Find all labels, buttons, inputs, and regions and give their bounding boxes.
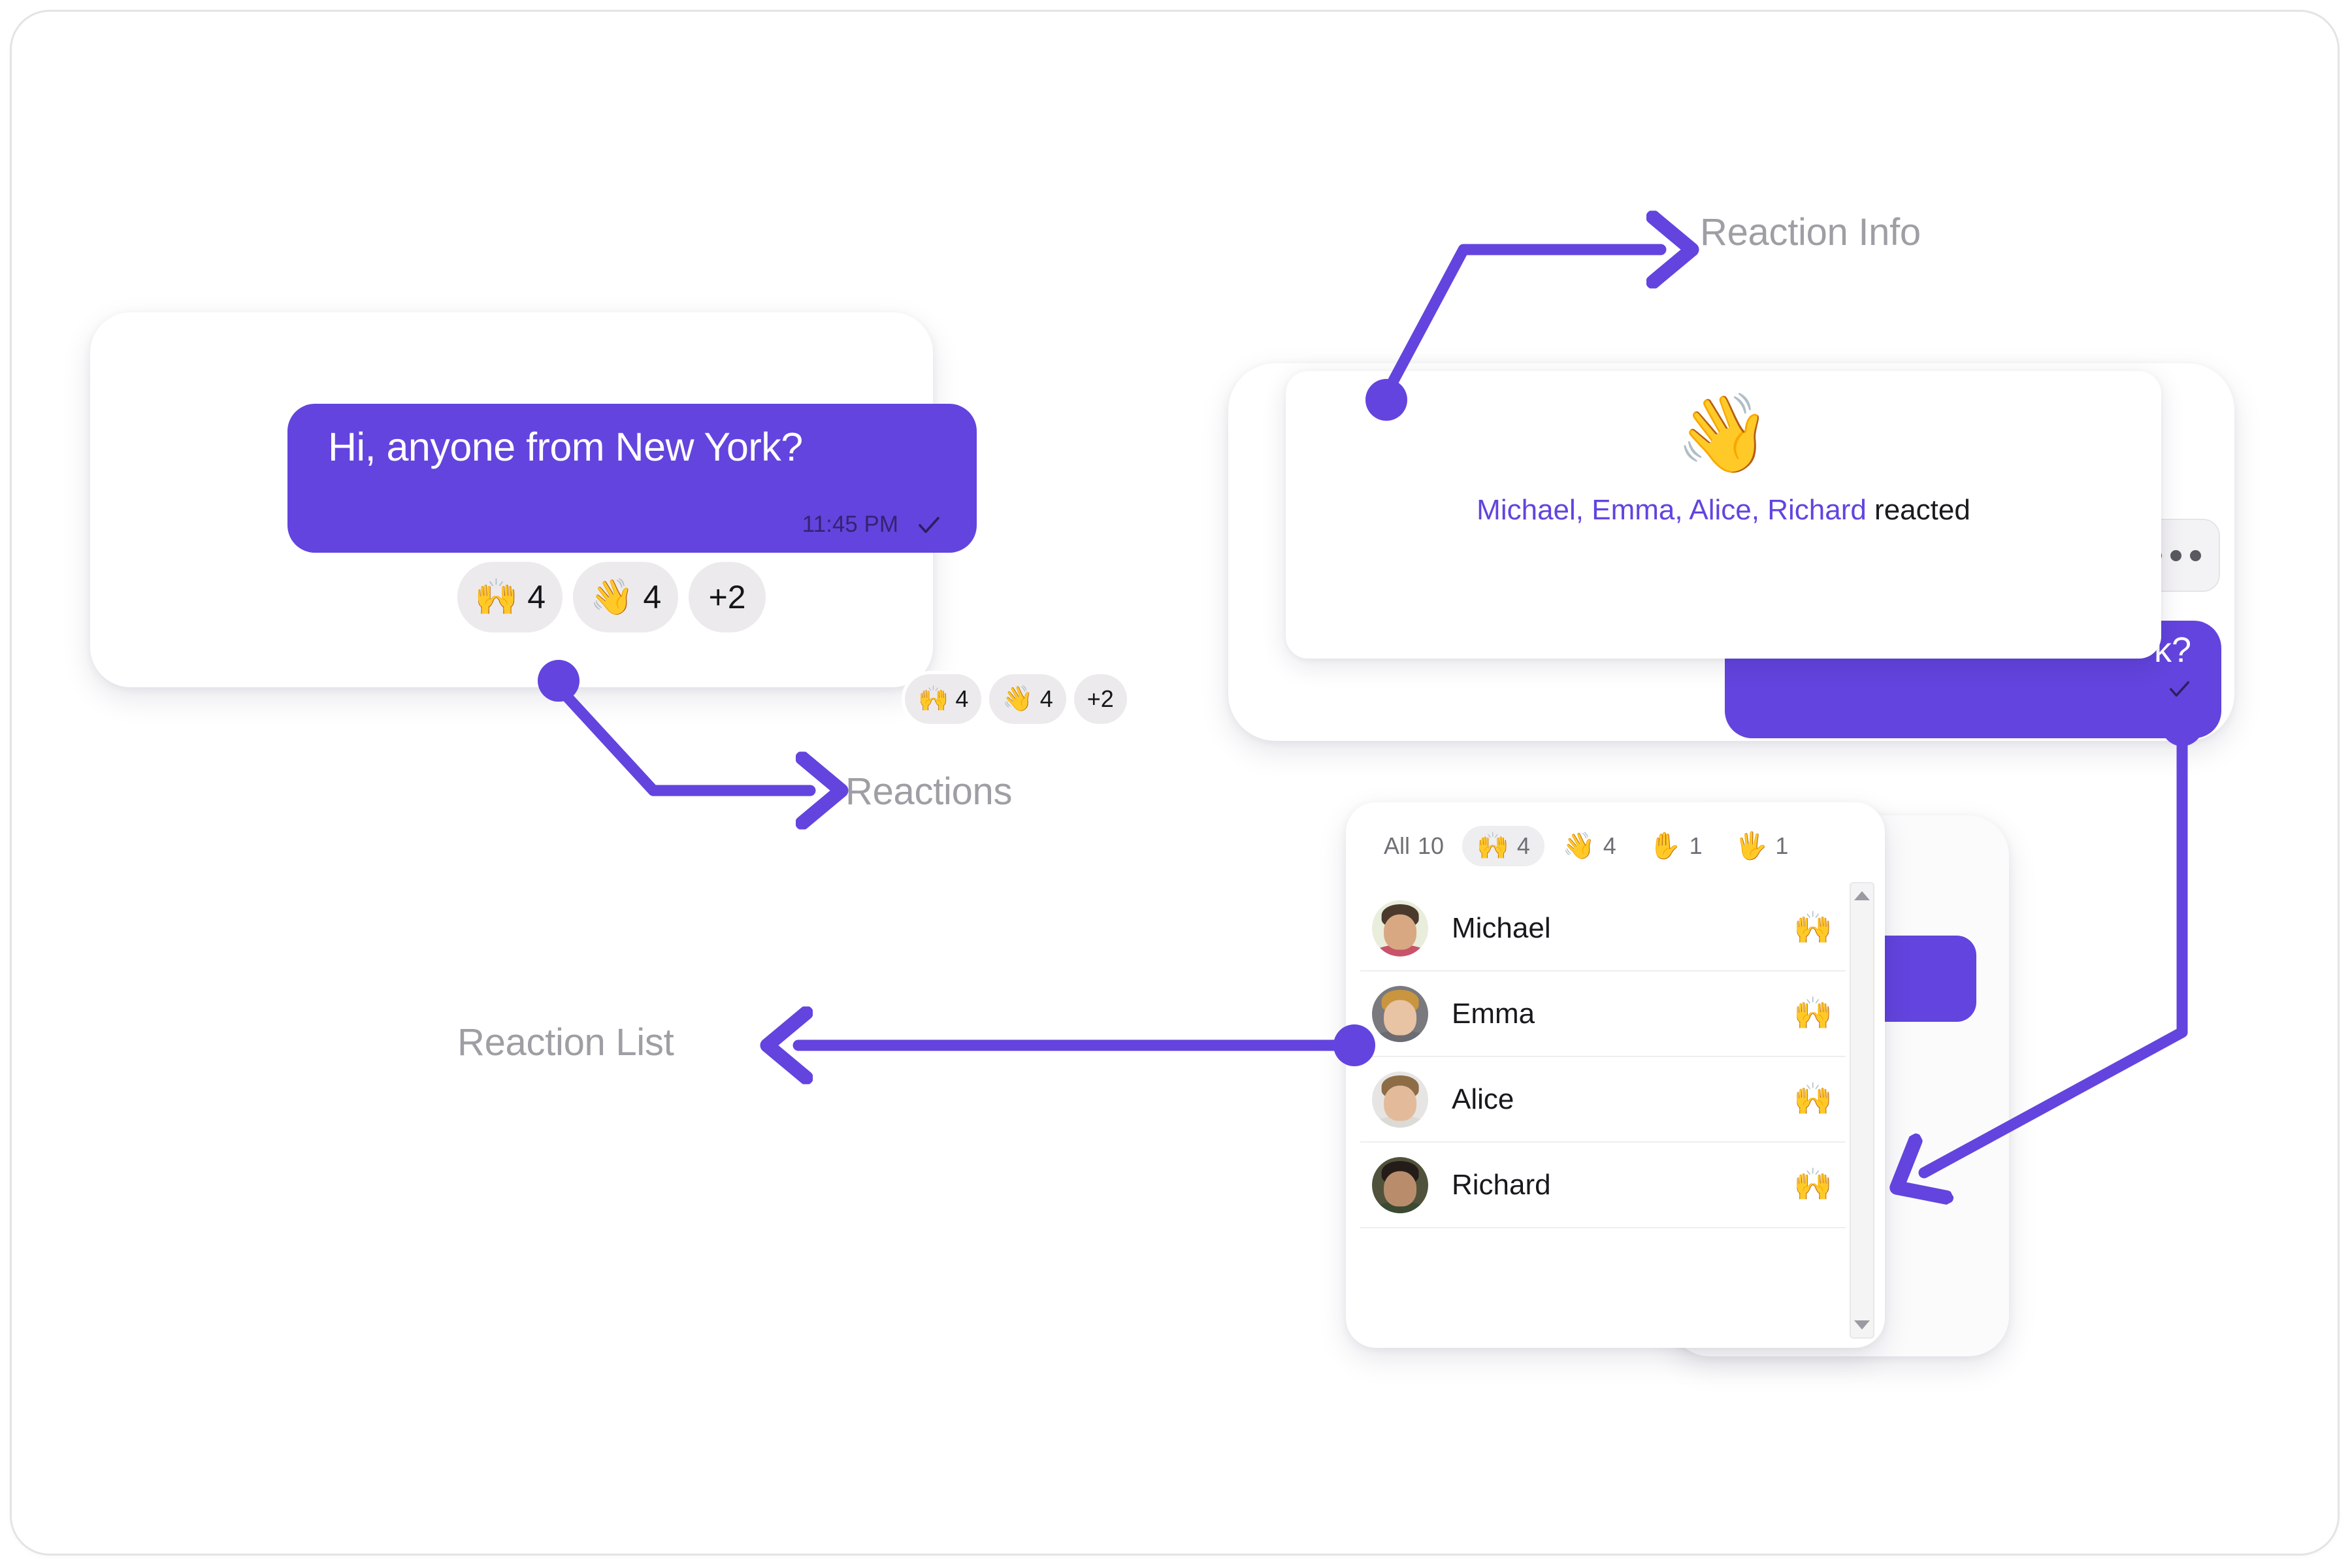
reaction-list-scrollbar[interactable]	[1850, 882, 1874, 1339]
avatar	[1372, 900, 1428, 956]
reaction-list-tabs: All 10 🙌 4 👋 4 ✋ 1 🖐 1	[1369, 821, 1877, 872]
annotation-label-reaction-info: Reaction Info	[1700, 210, 1921, 254]
list-item-name: Emma	[1452, 998, 1793, 1030]
raising-hands-icon: 🙌	[1793, 1169, 1833, 1201]
reaction-info-text: Michael, Emma, Alice, Richard reacted	[1477, 494, 1970, 527]
message-text: Hi, anyone from New York?	[328, 426, 947, 468]
more-reactions-count: +2	[709, 578, 746, 616]
list-item-name: Michael	[1452, 912, 1793, 945]
check-icon	[2166, 676, 2194, 703]
raising-hands-icon: 🙌	[1793, 998, 1833, 1030]
tab-count: 1	[1775, 832, 1788, 860]
tab-all[interactable]: All 10	[1369, 826, 1458, 866]
chevron-up-icon[interactable]	[1854, 891, 1870, 900]
tab-all-count: 10	[1418, 832, 1444, 860]
message-time: 11:45 PM	[802, 512, 898, 538]
reaction-list-panel: All 10 🙌 4 👋 4 ✋ 1 🖐 1	[1346, 802, 1885, 1348]
reaction-info-suffix: reacted	[1867, 494, 1970, 526]
reaction-info-names: Michael, Emma, Alice, Richard	[1477, 494, 1867, 526]
tab-count: 4	[1517, 832, 1530, 860]
waving-hand-icon: 👋	[1002, 687, 1033, 711]
reaction-pill-waving-hand[interactable]: 👋 4	[989, 674, 1066, 724]
tab-count: 1	[1690, 832, 1703, 860]
message-reactions-row: 🙌 4 👋 4 +2	[457, 562, 766, 632]
message-meta: 11:45 PM	[802, 511, 943, 538]
hand-splayed-icon: 🖐	[1735, 833, 1768, 859]
reaction-pill-more[interactable]: +2	[689, 562, 766, 632]
raised-hand-icon: ✋	[1649, 833, 1682, 859]
message-bubble[interactable]: Hi, anyone from New York? 11:45 PM	[287, 404, 977, 553]
raising-hands-icon: 🙌	[1793, 1084, 1833, 1115]
more-reactions-count: +2	[1087, 685, 1114, 713]
chevron-down-icon[interactable]	[1854, 1320, 1870, 1330]
reaction-pill-waving-hand[interactable]: 👋 4	[573, 562, 678, 632]
reaction-list-rows: Michael 🙌 Emma 🙌 Alice 🙌	[1360, 886, 1846, 1337]
chat-preview-reactions-row: 🙌 4 👋 4 +2	[905, 674, 1127, 724]
waving-hand-icon: 👋	[1563, 833, 1595, 859]
tab-raising-hands[interactable]: 🙌 4	[1462, 826, 1544, 866]
annotation-label-reaction-list: Reaction List	[457, 1021, 674, 1064]
avatar	[1372, 1071, 1428, 1128]
screenshot-canvas: Hi, anyone from New York? 11:45 PM 🙌 4 👋…	[0, 0, 2352, 1568]
annotation-label-reactions: Reactions	[845, 770, 1012, 813]
reaction-pill-more[interactable]: +2	[1074, 674, 1127, 724]
avatar	[1372, 1157, 1428, 1213]
reaction-count: 4	[1040, 685, 1053, 713]
waving-hand-icon: 👋	[1676, 392, 1772, 477]
tab-all-label: All	[1384, 832, 1410, 860]
reaction-info-card: 👋 Michael, Emma, Alice, Richard reacted	[1286, 371, 2161, 659]
waving-hand-icon: 👋	[590, 580, 634, 615]
reaction-count: 4	[643, 578, 661, 616]
list-item[interactable]: Richard 🙌	[1360, 1143, 1846, 1228]
list-item-name: Alice	[1452, 1083, 1793, 1116]
raising-hands-icon: 🙌	[474, 580, 518, 615]
chat-preview-bubble-meta	[2153, 676, 2194, 703]
raising-hands-icon: 🙌	[1793, 913, 1833, 944]
avatar	[1372, 986, 1428, 1042]
reaction-pill-raising-hands[interactable]: 🙌 4	[457, 562, 563, 632]
tab-count: 4	[1603, 832, 1616, 860]
tab-raised-hand[interactable]: ✋ 1	[1635, 826, 1717, 866]
list-item[interactable]: Michael 🙌	[1360, 886, 1846, 972]
raising-hands-icon: 🙌	[918, 687, 949, 711]
reaction-pill-raising-hands[interactable]: 🙌 4	[905, 674, 981, 724]
tab-hand-splayed[interactable]: 🖐 1	[1721, 826, 1803, 866]
raising-hands-icon: 🙌	[1477, 833, 1509, 859]
reaction-count: 4	[527, 578, 546, 616]
tab-waving-hand[interactable]: 👋 4	[1548, 826, 1631, 866]
list-item[interactable]: Alice 🙌	[1360, 1057, 1846, 1143]
list-item-name: Richard	[1452, 1169, 1793, 1201]
check-icon	[915, 511, 943, 538]
list-item[interactable]: Emma 🙌	[1360, 972, 1846, 1057]
reaction-count: 4	[955, 685, 968, 713]
